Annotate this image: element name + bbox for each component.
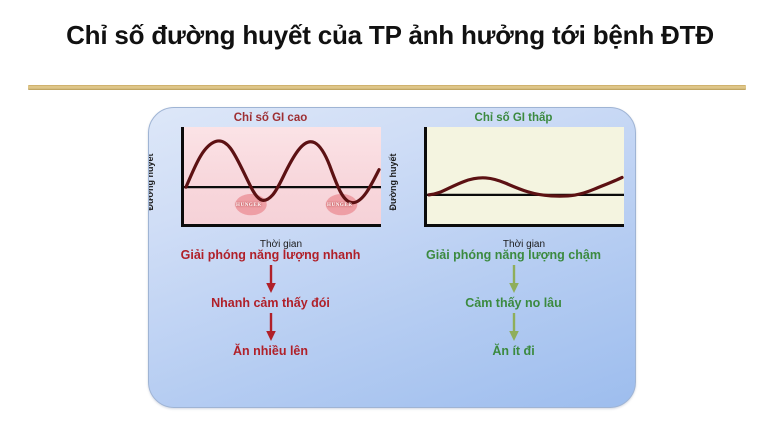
- flow-step-3-low-gi: Ăn ít đi: [392, 344, 635, 358]
- flow-step-2-low-gi: Cảm thấy no lâu: [392, 296, 635, 310]
- hunger-label-2: HUNGER: [327, 203, 353, 208]
- flow-step-3-high-gi: Ăn nhiều lên: [149, 344, 392, 358]
- chart-high-gi-curve: [186, 141, 379, 203]
- flow-step-1-low-gi: Giải phóng năng lượng chậm: [392, 248, 635, 262]
- flow-arrow-2-high-gi: [149, 310, 392, 344]
- flow-arrow-1-high-gi: [149, 262, 392, 296]
- arrow-down-icon: [507, 312, 521, 342]
- title-divider-rule: [28, 85, 746, 90]
- column-high-gi: Chỉ số GI cao Đường huyết HUNGER HUNGER …: [149, 108, 392, 407]
- flow-arrow-2-low-gi: [392, 310, 635, 344]
- arrow-down-icon: [264, 312, 278, 342]
- flow-step-2-high-gi: Nhanh cảm thấy đói: [149, 296, 392, 310]
- chart-low-gi-curve: [429, 177, 622, 196]
- chart-low-gi: Đường huyết Thời gian: [404, 127, 625, 237]
- hunger-label-1: HUNGER: [236, 203, 262, 208]
- chart-title-high-gi: Chỉ số GI cao: [149, 112, 392, 124]
- flow-step-1-high-gi: Giải phóng năng lượng nhanh: [149, 248, 392, 262]
- flow-arrow-1-low-gi: [392, 262, 635, 296]
- chart-high-gi-plot: HUNGER HUNGER: [181, 127, 381, 227]
- chart-high-gi-ylabel: Đường huyết: [148, 141, 159, 223]
- chart-low-gi-ylabel: Đường huyết: [388, 141, 402, 223]
- flow-low-gi: Giải phóng năng lượng chậm Cảm thấy no l…: [392, 248, 635, 358]
- flow-high-gi: Giải phóng năng lượng nhanh Nhanh cảm th…: [149, 248, 392, 358]
- page-title: Chỉ số đường huyết của TP ảnh hưởng tới …: [0, 20, 780, 51]
- chart-high-gi: Đường huyết HUNGER HUNGER Thời gian: [161, 127, 382, 237]
- content-panel: Chỉ số GI cao Đường huyết HUNGER HUNGER …: [148, 107, 636, 408]
- chart-low-gi-svg: [427, 127, 624, 224]
- chart-title-low-gi: Chỉ số GI thấp: [392, 112, 635, 124]
- column-low-gi: Chỉ số GI thấp Đường huyết Thời gian Giả…: [392, 108, 635, 407]
- arrow-down-icon: [264, 264, 278, 294]
- arrow-down-icon: [507, 264, 521, 294]
- chart-high-gi-svg: [184, 127, 381, 224]
- chart-low-gi-plot: [424, 127, 624, 227]
